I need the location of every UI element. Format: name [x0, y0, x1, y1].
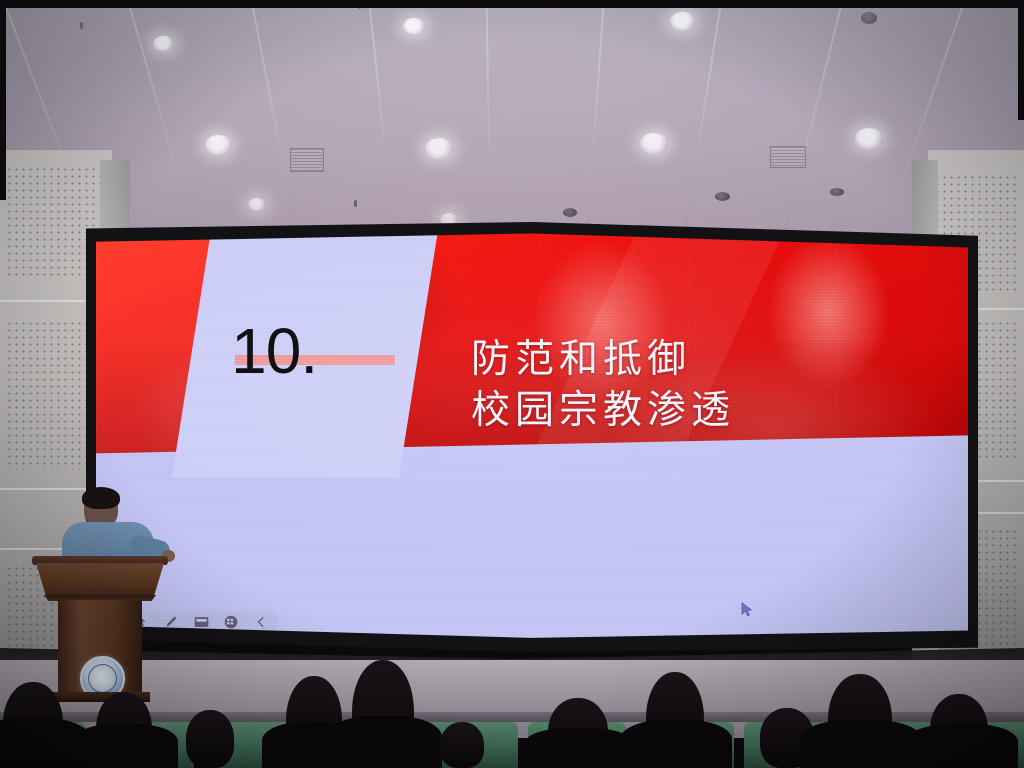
section-number-block: 10. — [231, 321, 405, 382]
ceiling-downlight — [670, 12, 695, 30]
audience — [0, 638, 1024, 768]
ceiling-speaker — [830, 188, 844, 196]
slide-title-line-2: 校园宗教渗透 — [471, 385, 951, 436]
ceiling-speaker — [861, 12, 877, 24]
slide-title: 防范和抵御 校园宗教渗透 — [471, 334, 951, 437]
audience-shoulders — [620, 720, 732, 768]
ceiling-speaker — [563, 208, 577, 217]
presenter-glasses — [86, 503, 116, 510]
lecture-hall-photo: 10. 防范和抵御 校园宗教渗透 — [0, 0, 1024, 768]
led-screen: 10. 防范和抵御 校园宗教渗透 — [86, 222, 978, 652]
ceiling-downlight — [153, 36, 174, 51]
ceiling-downlight — [640, 133, 668, 154]
ceiling-downlight — [205, 135, 232, 155]
grid-view-icon[interactable] — [223, 614, 240, 629]
mouse-cursor-icon — [741, 602, 754, 618]
chevron-left-icon[interactable] — [253, 614, 270, 629]
section-number: 10. — [231, 321, 405, 382]
audience-shoulders — [800, 720, 922, 768]
ceiling-downlight — [248, 198, 266, 211]
ceiling-speaker — [715, 192, 730, 201]
ceiling-downlight — [403, 18, 425, 34]
sprinkler-head — [354, 200, 357, 207]
screen-surface[interactable]: 10. 防范和抵御 校园宗教渗透 — [96, 231, 968, 642]
audience-shoulders — [326, 716, 442, 768]
slide-title-line-1: 防范和抵御 — [471, 334, 951, 385]
audience-shoulders — [524, 728, 634, 768]
slide-display-icon[interactable] — [193, 614, 210, 629]
presentation-slide[interactable]: 10. 防范和抵御 校园宗教渗透 — [96, 231, 968, 642]
ceiling — [0, 0, 1024, 235]
sprinkler-head — [80, 22, 83, 29]
audience-head — [440, 722, 484, 768]
audience-shoulders — [906, 724, 1018, 768]
podium-shelf — [36, 563, 164, 597]
ceiling-downlight — [425, 138, 453, 159]
ceiling-downlight — [855, 128, 883, 149]
ceiling-vent — [290, 148, 324, 172]
audience-shoulders — [72, 724, 178, 768]
audience-head — [186, 710, 234, 768]
ceiling-vent — [770, 146, 806, 168]
